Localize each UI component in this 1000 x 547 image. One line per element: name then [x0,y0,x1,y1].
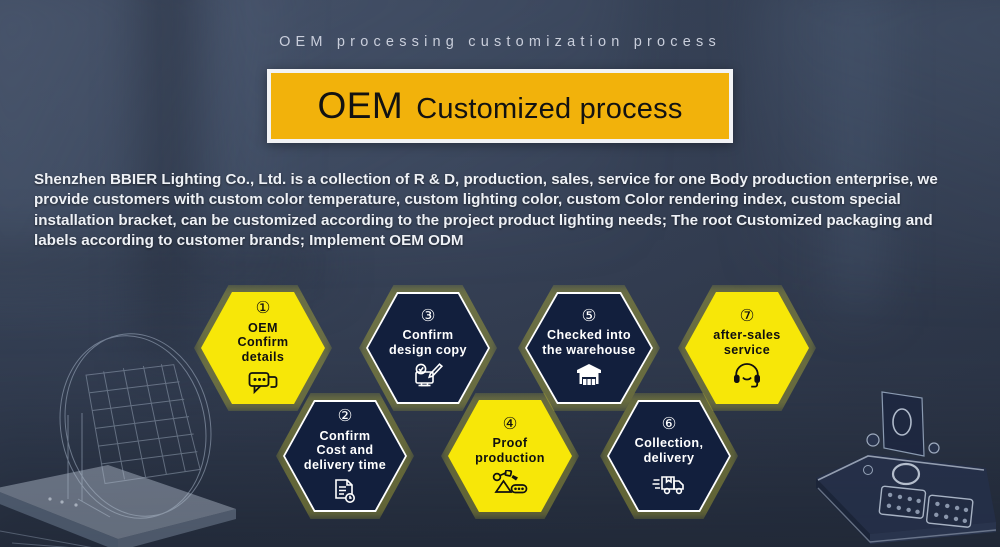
oem-process-infographic: OEM processing customization process OEM… [0,0,1000,547]
step-4-label: Proof production [475,436,545,465]
step-1-label: OEM Confirm details [237,321,288,365]
banner-title-rest: Customized process [416,93,682,126]
step-3-label: Confirm design copy [389,328,467,357]
conveyor-robot-icon [492,470,528,496]
step-3-hexagon[interactable]: ③ Confirm design copy [366,292,490,404]
banner-inner: OEM Customized process [317,85,682,127]
step-6-number: ⑥ [662,416,677,433]
headset-icon [733,362,761,388]
banner-title-box: OEM Customized process [267,69,733,143]
step-4-hexagon[interactable]: ④ Proof production [448,400,572,512]
step-2-hexagon[interactable]: ② Confirm Cost and delivery time [283,400,407,512]
step-2-number: ② [338,408,353,425]
delivery-truck-icon [652,470,686,496]
banner-title-oem: OEM [317,85,403,127]
chat-bubble-icon [248,370,278,396]
company-intro-paragraph: Shenzhen BBIER Lighting Co., Ltd. is a c… [34,170,970,252]
led-street-light [810,382,1000,547]
step-1-hexagon[interactable]: ① OEM Confirm details [201,292,325,404]
step-7-number: ⑦ [740,308,755,325]
step-5-label: Checked into the warehouse [542,328,635,357]
step-3-number: ③ [421,308,436,325]
step-6-label: Collection, delivery [635,436,704,465]
monitor-pen-icon [412,362,444,388]
step-4-number: ④ [503,416,518,433]
step-2-label: Confirm Cost and delivery time [304,429,386,473]
step-7-label: after-sales service [713,328,780,357]
warehouse-icon [576,362,602,388]
document-clock-icon [333,478,357,504]
eyebrow-title: OEM processing customization process [0,34,1000,50]
step-5-number: ⑤ [582,308,597,325]
step-6-hexagon[interactable]: ⑥ Collection, delivery [607,400,731,512]
step-7-hexagon[interactable]: ⑦ after-sales service [685,292,809,404]
step-5-hexagon[interactable]: ⑤ Checked into the warehouse [525,292,653,404]
step-1-number: ① [256,300,271,317]
